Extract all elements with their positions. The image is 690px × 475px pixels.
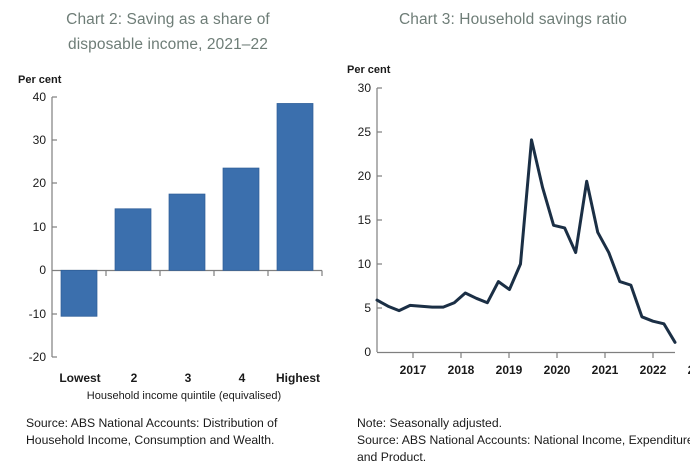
chart-3-panel: Chart 3: Household savings ratio Per cen…	[335, 0, 690, 475]
chart-2-xtick-4: 4	[214, 371, 270, 385]
chart-2-xtick-highest: Highest	[268, 371, 328, 385]
chart-2-footnote: Source: ABS National Accounts: Distribut…	[26, 415, 326, 449]
chart-2-bar-highest	[277, 104, 313, 271]
chart-3-xtick-2023: 2023	[673, 363, 690, 377]
chart-2-bar-lowest	[61, 270, 97, 316]
chart-2-source-line-2: Household Income, Consumption and Wealth…	[26, 432, 326, 449]
slide-canvas: Chart 2: Saving as a share of disposable…	[0, 0, 690, 475]
chart-2-bar-3	[169, 194, 205, 270]
chart-2-bars	[61, 104, 313, 317]
chart-2-xtick-2: 2	[106, 371, 162, 385]
chart-2-xtick-lowest: Lowest	[52, 371, 108, 385]
chart-3-data-line	[377, 140, 675, 342]
chart-2-bar-4	[223, 168, 259, 270]
chart-3-plot	[335, 0, 690, 400]
chart-3-source-line-1: Source: ABS National Accounts: National …	[357, 432, 690, 449]
chart-2-panel: Chart 2: Saving as a share of disposable…	[0, 0, 335, 475]
chart-3-footnote: Note: Seasonally adjusted. Source: ABS N…	[357, 415, 690, 466]
chart-3-source-line-2: and Product.	[357, 449, 690, 466]
chart-2-x-axis-caption: Household income quintile (equivalised)	[42, 390, 326, 402]
chart-3-note-line: Note: Seasonally adjusted.	[357, 415, 690, 432]
chart-2-xtick-3: 3	[160, 371, 216, 385]
chart-2-source-line-1: Source: ABS National Accounts: Distribut…	[26, 415, 326, 432]
chart-2-plot	[0, 0, 335, 400]
chart-2-bar-2	[115, 209, 151, 271]
